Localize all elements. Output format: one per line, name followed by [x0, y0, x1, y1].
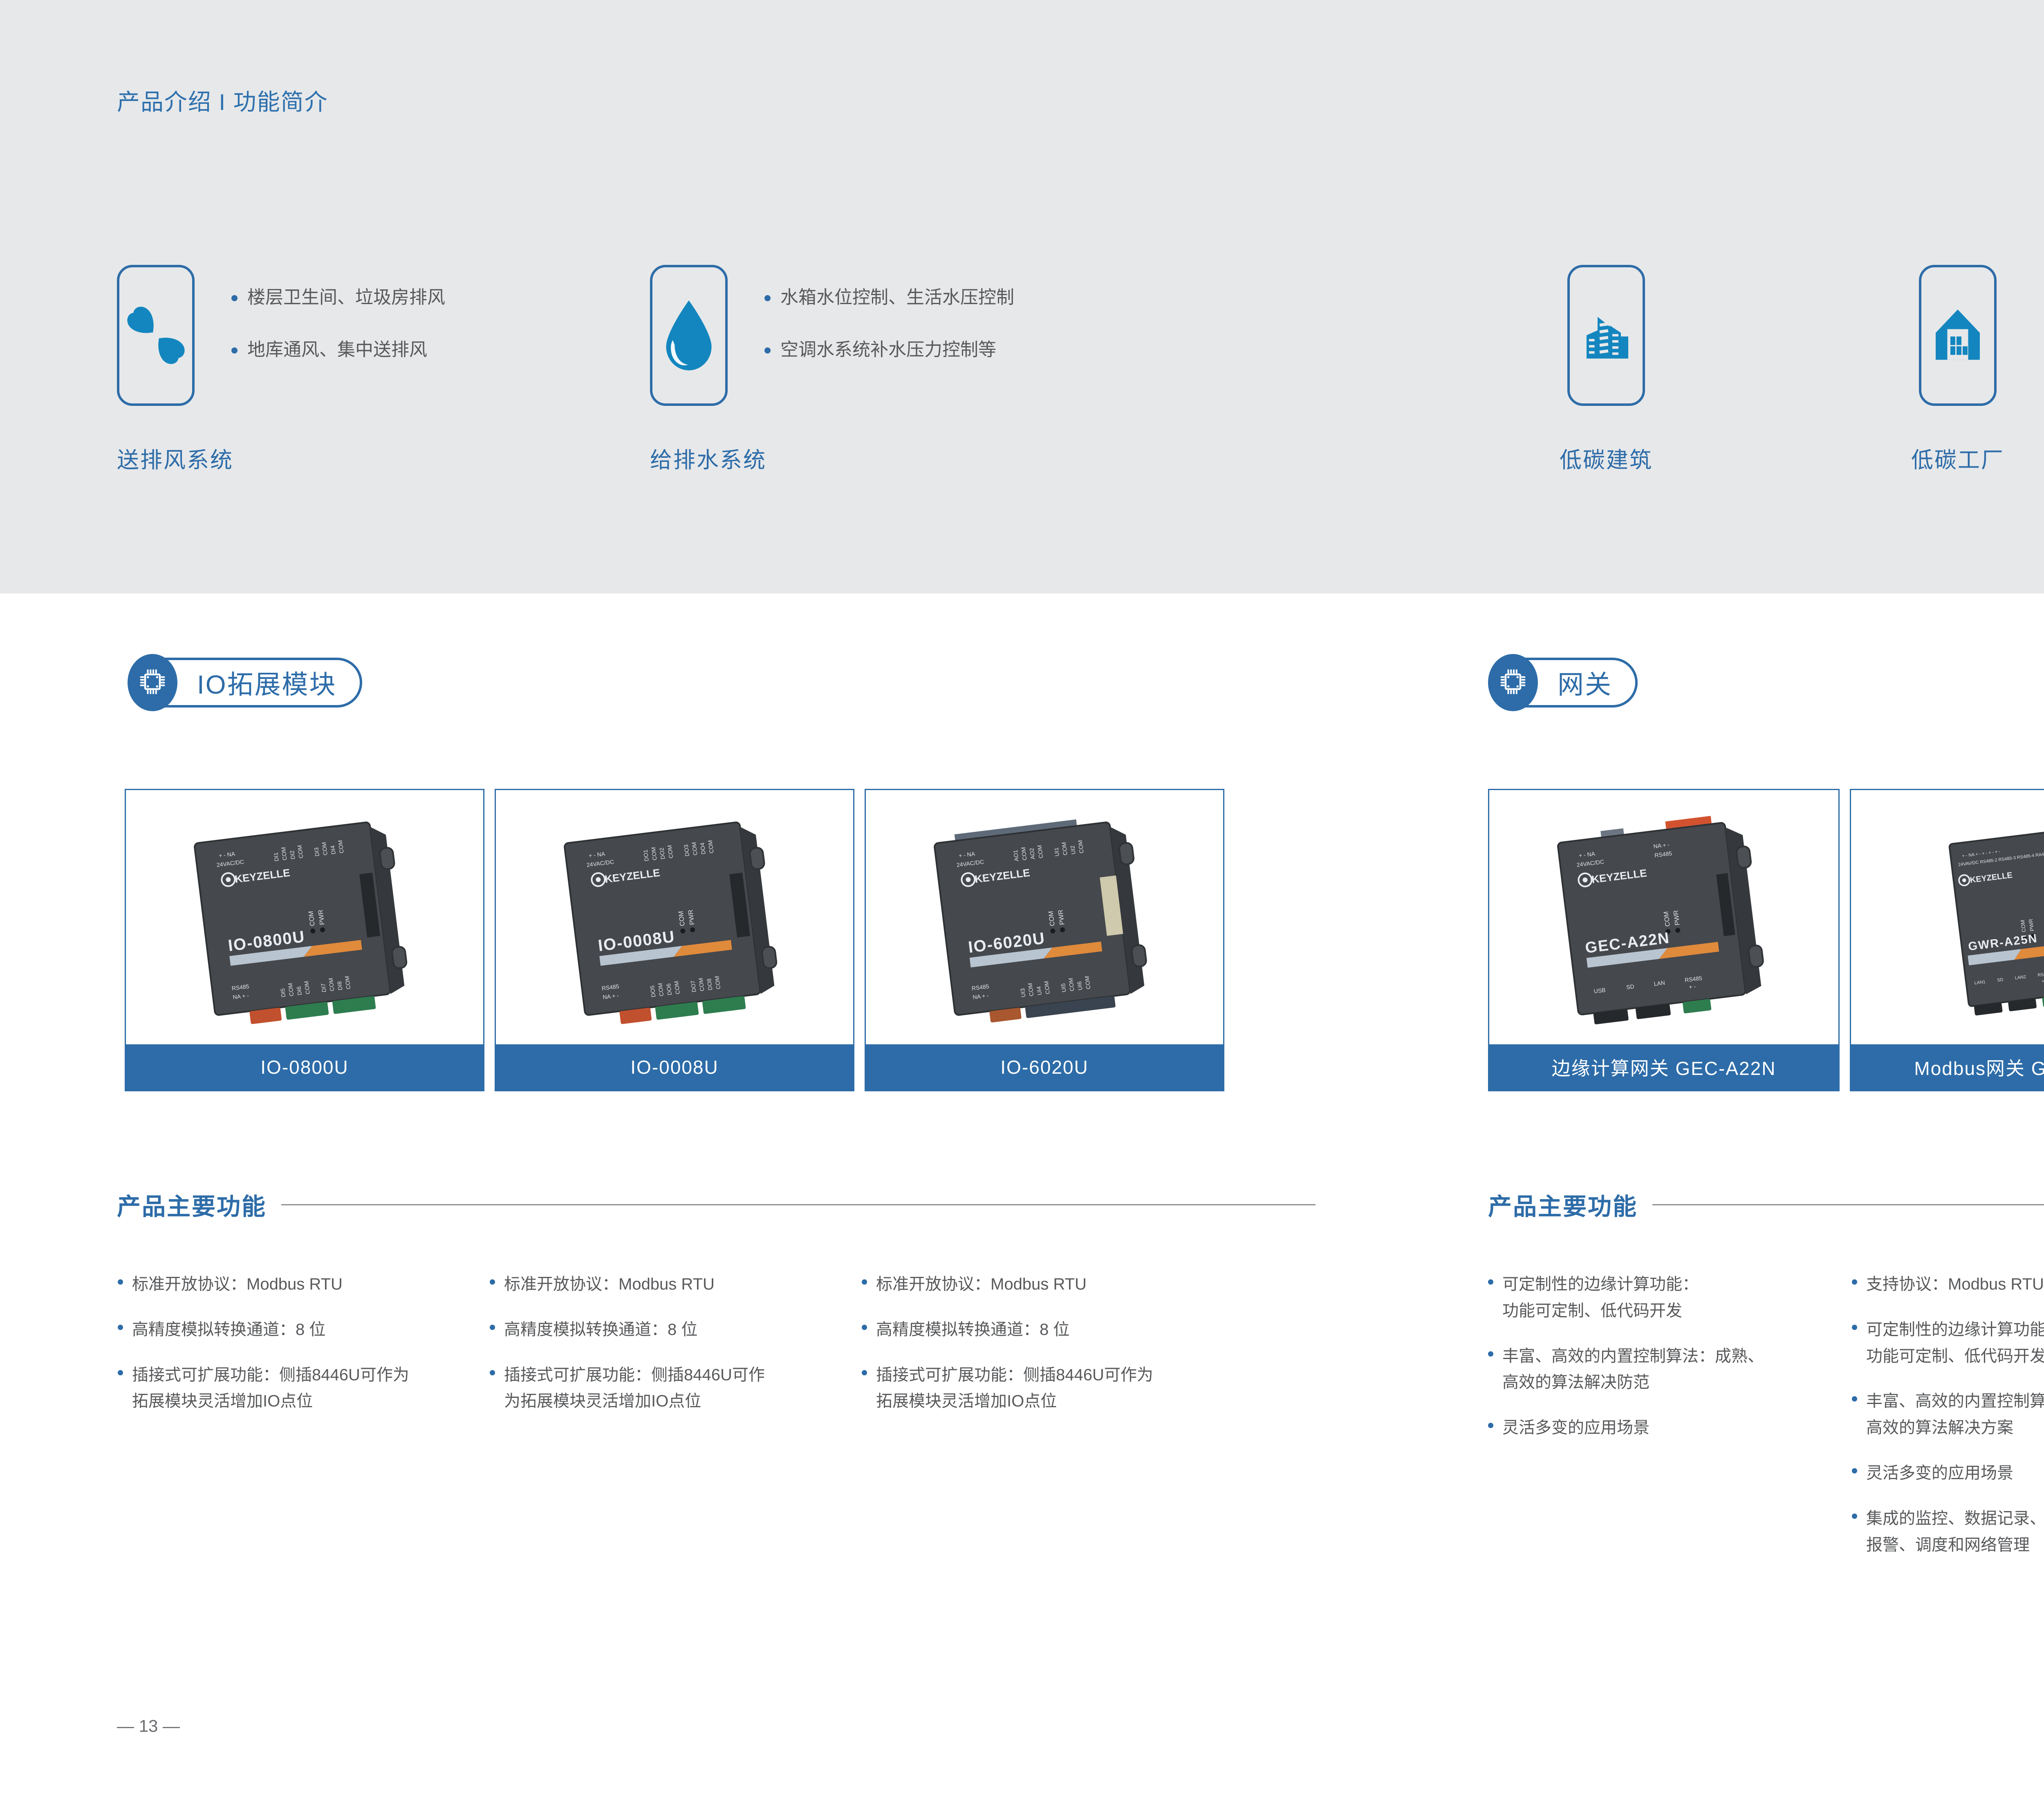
office-buildings-icon [1576, 303, 1637, 368]
feature-heading-label: 产品主要功能 [117, 1187, 267, 1222]
svg-text:DI4: DI4 [329, 845, 337, 855]
feature-text: 标准开放协议：Modbus RTU [876, 1271, 1087, 1298]
svg-text:DI2: DI2 [289, 850, 296, 860]
bullet-dot [862, 1279, 867, 1285]
bullet-dot [1488, 1351, 1493, 1357]
svg-text:UI3: UI3 [1019, 988, 1027, 998]
brochure-spread: 产品介绍 I 功能简介 产品介绍 I 功能简介 [0, 0, 2044, 1798]
svg-text:+ -: + - [1688, 983, 1696, 990]
feature-heading-gateways: 产品主要功能 [1488, 1187, 2044, 1222]
list-item: 高精度模拟转换通道：8 位 [490, 1317, 862, 1343]
list-item: 空调水系统补水压力控制等 [764, 341, 1014, 359]
svg-text:DO5: DO5 [649, 985, 657, 998]
product-image: + - NA + - + - + - + - 24VAV/DC RS485-2 … [1851, 790, 2044, 1044]
feature-text: 灵活多变的应用场景 [1502, 1415, 1650, 1441]
feature-text: 插接式可扩展功能：侧插8446U可作为拓展模块灵活增加IO点位 [132, 1362, 409, 1415]
list-item: 标准开放协议：Modbus RTU [118, 1271, 490, 1298]
factory-icon-box [1919, 265, 1997, 406]
feature-column: 标准开放协议：Modbus RTU 高精度模拟转换通道：8 位 插接式可扩展功能… [118, 1271, 490, 1433]
list-item: 高精度模拟转换通道：8 位 [118, 1317, 490, 1343]
product-image: + - NA 24VAC/DC DI1 COM DI2 COM DI3 COM … [126, 790, 483, 1044]
svg-text:UI1: UI1 [1053, 847, 1060, 857]
feature-text: 高精度模拟转换通道：8 位 [876, 1317, 1069, 1343]
product-card[interactable]: + - NA + - + - + - + - 24VAV/DC RS485-2 … [1850, 789, 2044, 1091]
bullet-dot [490, 1279, 495, 1285]
product-caption: 边缘计算网关 GEC-A22N [1489, 1044, 1838, 1090]
section-title-label: 网关 [1558, 664, 1612, 701]
feature-text: 灵活多变的应用场景 [1866, 1460, 2013, 1487]
feature-text: 丰富、高效的内置控制算法：成熟、高效的算法解决防范 [1502, 1343, 1764, 1396]
svg-text:UI6: UI6 [1076, 981, 1084, 991]
product-card[interactable]: + - NA 24VAC/DC AO1 COM AO2 COM UI1 COM … [865, 789, 1224, 1091]
water-drop-icon [658, 298, 719, 373]
scenario-title-water: 给排水系统 [650, 442, 1014, 474]
feature-text: 插接式可扩展功能：侧插8446U可作为拓展模块灵活增加IO点位 [504, 1362, 765, 1415]
feature-text: 标准开放协议：Modbus RTU [504, 1271, 715, 1298]
feature-text: 支持协议：Modbus RTU [1866, 1271, 2044, 1298]
bullet-dot [1488, 1423, 1493, 1428]
bullet-dot [490, 1325, 495, 1330]
low-carbon-factory: 低碳工厂 [1911, 265, 2004, 474]
svg-text:DO1: DO1 [642, 849, 650, 862]
chip-icon-badge [128, 654, 177, 711]
svg-text:SD: SD [1997, 977, 2004, 983]
product-caption: IO-6020U [866, 1044, 1223, 1090]
chip-icon-badge [1488, 654, 1538, 711]
svg-text:UI2: UI2 [1069, 845, 1077, 855]
bullet-dot [862, 1370, 867, 1375]
bullet-text: 空调水系统补水压力控制等 [780, 341, 996, 359]
feature-text: 高精度模拟转换通道：8 位 [504, 1317, 697, 1343]
bullet-dot [231, 295, 238, 301]
svg-text:DI3: DI3 [313, 847, 320, 857]
list-item: 丰富、高效的内置控制算法：成熟、高效的算法解决防范 [1488, 1343, 1852, 1396]
list-item: 高精度模拟转换通道：8 位 [862, 1317, 1234, 1343]
list-item: 标准开放协议：Modbus RTU [490, 1271, 862, 1298]
product-caption: IO-0008U [496, 1044, 853, 1090]
svg-text:+ -: + - [2042, 978, 2044, 984]
heading-rule [1652, 1204, 2044, 1205]
product-card[interactable]: + - NA 24VAC/DC NA + - RS485 USB SD LAN … [1488, 789, 1840, 1091]
list-item: 灵活多变的应用场景 [1852, 1460, 2044, 1487]
list-item: 地库通风、集中送排风 [231, 341, 445, 359]
water-bullet-list: 水箱水位控制、生活水压控制 空调水系统补水压力控制等 [764, 265, 1014, 359]
svg-text:DO8: DO8 [706, 978, 713, 991]
section-title-label: IO拓展模块 [197, 664, 337, 701]
svg-text:DO7: DO7 [689, 980, 697, 993]
feature-text: 插接式可扩展功能：侧插8446U可作为拓展模块灵活增加IO点位 [876, 1362, 1153, 1415]
bullet-dot [118, 1370, 123, 1375]
factory-icon [1927, 303, 1988, 368]
list-item: 丰富、高效的内置控制算法：成熟、高效的算法解决方案 [1852, 1388, 2044, 1441]
list-item: 插接式可扩展功能：侧插8446U可作为拓展模块灵活增加IO点位 [118, 1362, 490, 1415]
bullet-dot [1488, 1279, 1493, 1285]
feature-heading-io: 产品主要功能 [117, 1187, 1335, 1222]
water-drop-icon-box [650, 265, 728, 406]
product-image: + - NA 24VAC/DC AO1 COM AO2 COM UI1 COM … [866, 790, 1223, 1044]
svg-text:DI7: DI7 [320, 983, 327, 993]
svg-text:DI8: DI8 [336, 981, 344, 991]
fan-icon [120, 300, 192, 371]
bullet-dot [764, 295, 771, 301]
svg-text:UI5: UI5 [1060, 983, 1067, 993]
scenario-fan: 楼层卫生间、垃圾房排风 地库通风、集中送排风 送排风系统 [117, 265, 445, 474]
bullet-dot [1852, 1396, 1857, 1402]
feature-column: 可定制性的边缘计算功能： 功能可定制、低代码开发 丰富、高效的内置控制算法：成熟… [1488, 1271, 1852, 1577]
feature-columns-io: 标准开放协议：Modbus RTU 高精度模拟转换通道：8 位 插接式可扩展功能… [118, 1271, 1234, 1433]
list-item: 集成的监控、数据记录、能耗计量、报警、调度和网络管理 [1852, 1505, 2044, 1558]
list-item: 楼层卫生间、垃圾房排风 [231, 289, 445, 307]
office-buildings-icon-box [1567, 265, 1645, 406]
running-head-left: 产品介绍 I 功能简介 [117, 84, 328, 117]
list-item: 支持协议：Modbus RTU [1852, 1271, 2044, 1298]
product-card[interactable]: + - NA 24VAC/DC DO1 COM DO2 COM DO3 COM … [495, 789, 854, 1091]
list-item: 可定制性的边缘计算功能：功能可定制、低代码开发 [1852, 1317, 2044, 1370]
feature-heading-label: 产品主要功能 [1488, 1187, 1638, 1222]
bullet-dot [118, 1279, 123, 1285]
svg-text:AO1: AO1 [1012, 849, 1020, 862]
list-item: 插接式可扩展功能：侧插8446U可作为拓展模块灵活增加IO点位 [490, 1362, 862, 1415]
low-carbon-building: 低碳建筑 [1560, 265, 1653, 474]
chip-icon [1498, 667, 1528, 699]
feature-column: 标准开放协议：Modbus RTU 高精度模拟转换通道：8 位 插接式可扩展功能… [490, 1271, 862, 1433]
svg-text:DO3: DO3 [683, 844, 690, 857]
feature-text: 可定制性的边缘计算功能： 功能可定制、低代码开发 [1502, 1271, 1699, 1324]
svg-text:DO6: DO6 [665, 983, 673, 996]
feature-column: 标准开放协议：Modbus RTU 高精度模拟转换通道：8 位 插接式可扩展功能… [862, 1271, 1234, 1433]
bullet-dot [118, 1325, 123, 1330]
fan-icon-box [117, 265, 195, 406]
bullet-dot [1852, 1468, 1857, 1473]
bullet-text: 水箱水位控制、生活水压控制 [780, 289, 1014, 307]
svg-text:LAN: LAN [1654, 979, 1665, 987]
bullet-dot [1852, 1279, 1857, 1285]
list-item: 标准开放协议：Modbus RTU [862, 1271, 1234, 1298]
product-image: + - NA 24VAC/DC NA + - RS485 USB SD LAN … [1489, 790, 1838, 1044]
list-item: 水箱水位控制、生活水压控制 [764, 289, 1014, 307]
bullet-dot [231, 347, 238, 354]
bullet-dot [1852, 1325, 1857, 1330]
svg-text:AO2: AO2 [1028, 847, 1036, 860]
low-carbon-factory-label: 低碳工厂 [1911, 442, 2004, 474]
feature-text: 丰富、高效的内置控制算法：成熟、高效的算法解决方案 [1866, 1388, 2044, 1441]
scenario-water: 水箱水位控制、生活水压控制 空调水系统补水压力控制等 给排水系统 [650, 265, 1014, 474]
feature-text: 集成的监控、数据记录、能耗计量、报警、调度和网络管理 [1866, 1505, 2044, 1558]
section-header-io-modules: IO拓展模块 [128, 654, 362, 711]
product-card-row-io: + - NA 24VAC/DC DI1 COM DI2 COM DI3 COM … [125, 789, 1224, 1091]
product-caption: IO-0800U [126, 1044, 483, 1090]
scenario-title-fan: 送排风系统 [117, 442, 445, 474]
list-item: 灵活多变的应用场景 [1488, 1415, 1852, 1441]
feature-text: 高精度模拟转换通道：8 位 [132, 1317, 325, 1343]
bullet-text: 楼层卫生间、垃圾房排风 [247, 289, 445, 307]
list-item: 可定制性的边缘计算功能： 功能可定制、低代码开发 [1488, 1271, 1852, 1324]
feature-text: 可定制性的边缘计算功能：功能可定制、低代码开发 [1866, 1317, 2044, 1370]
product-card-row-gateways: + - NA 24VAC/DC NA + - RS485 USB SD LAN … [1488, 789, 2044, 1091]
svg-text:DI1: DI1 [272, 852, 280, 862]
list-item: 插接式可扩展功能：侧插8446U可作为拓展模块灵活增加IO点位 [862, 1362, 1234, 1415]
svg-text:DO4: DO4 [699, 842, 706, 855]
svg-text:DI5: DI5 [279, 988, 287, 998]
section-header-gateways: 网关 [1488, 654, 1638, 711]
bullet-dot [862, 1325, 867, 1330]
svg-text:DO2: DO2 [658, 847, 666, 860]
svg-text:SD: SD [1626, 983, 1634, 990]
page-number-left: — 13 — [117, 1716, 180, 1736]
feature-column: 支持协议：Modbus RTU 可定制性的边缘计算功能：功能可定制、低代码开发 … [1852, 1271, 2044, 1577]
product-card[interactable]: + - NA 24VAC/DC DI1 COM DI2 COM DI3 COM … [125, 789, 484, 1091]
chip-icon [138, 667, 167, 699]
bullet-dot [490, 1370, 495, 1375]
feature-columns-gateways: 可定制性的边缘计算功能： 功能可定制、低代码开发 丰富、高效的内置控制算法：成熟… [1488, 1271, 2044, 1577]
heading-rule [281, 1204, 1316, 1205]
low-carbon-building-label: 低碳建筑 [1560, 442, 1653, 474]
bullet-dot [764, 347, 771, 354]
feature-text: 标准开放协议：Modbus RTU [132, 1271, 343, 1298]
bullet-dot [1852, 1514, 1857, 1519]
svg-text:DI6: DI6 [296, 986, 303, 996]
svg-text:UI4: UI4 [1035, 986, 1043, 996]
bullet-text: 地库通风、集中送排风 [247, 341, 427, 359]
fan-bullet-list: 楼层卫生间、垃圾房排风 地库通风、集中送排风 [231, 265, 445, 359]
product-caption: Modbus网关 GWR-A25N [1851, 1044, 2044, 1090]
product-image: + - NA 24VAC/DC DO1 COM DO2 COM DO3 COM … [496, 790, 853, 1044]
